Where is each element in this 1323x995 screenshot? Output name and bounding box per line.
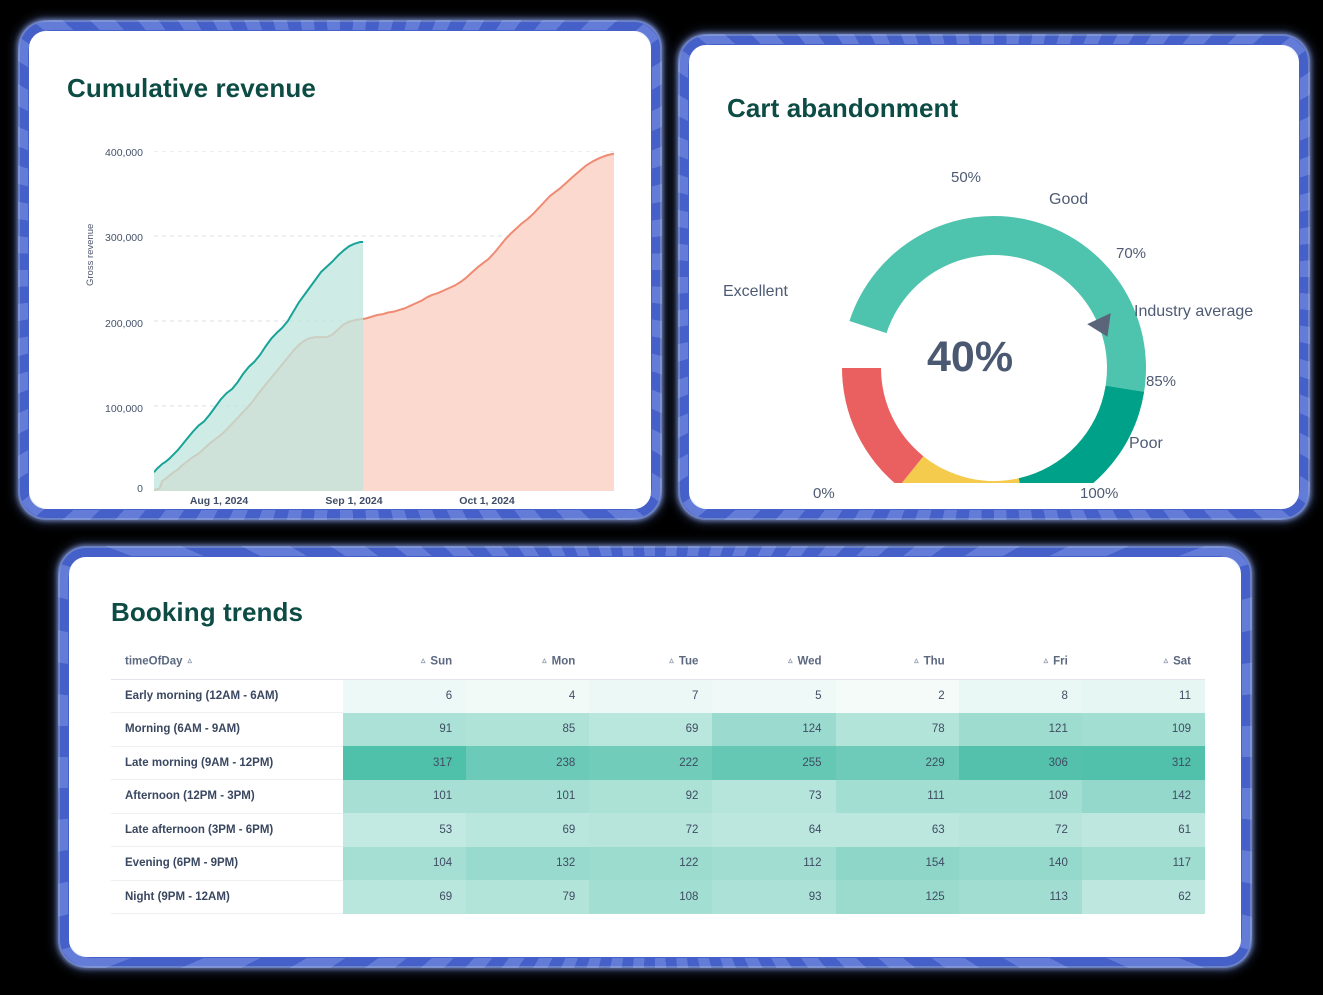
column-header-label: Thu	[924, 656, 945, 668]
page-title: Booking trends	[111, 597, 303, 628]
heatmap-cell: 229	[836, 746, 959, 780]
table-row: Night (9PM - 12AM)69791089312511362	[111, 880, 1205, 914]
heatmap-cell: 109	[959, 780, 1082, 814]
table-row: Evening (6PM - 9PM)104132122112154140117	[111, 847, 1205, 881]
heatmap-cell: 61	[1082, 813, 1205, 847]
row-header-cell: Afternoon (12PM - 3PM)	[111, 780, 343, 814]
heatmap-cell: 64	[712, 813, 835, 847]
y-tick-300000: 300,000	[105, 232, 143, 244]
heatmap-cell: 79	[466, 880, 589, 914]
heatmap-cell: 255	[712, 746, 835, 780]
column-header-label: Tue	[679, 656, 699, 668]
row-header-cell: Morning (6AM - 9AM)	[111, 713, 343, 747]
heatmap-cell: 121	[959, 713, 1082, 747]
dashboard-root: Cumulative revenue Gross revenue 400,000…	[0, 0, 1323, 995]
heatmap-cell: 69	[589, 713, 712, 747]
row-header-cell: Evening (6PM - 9PM)	[111, 847, 343, 881]
caret-up-icon: ▵	[421, 655, 426, 666]
heatmap-cell: 142	[1082, 780, 1205, 814]
column-header-sat[interactable]: ▵Sat	[1082, 655, 1205, 679]
row-header-cell: Late morning (9AM - 12PM)	[111, 746, 343, 780]
heatmap-cell: 69	[343, 880, 466, 914]
caret-up-icon: ▵	[188, 655, 193, 666]
column-header-label: Sun	[430, 656, 452, 668]
heatmap-cell: 108	[589, 880, 712, 914]
column-header-label: Sat	[1173, 656, 1191, 668]
gauge-band-label-industry: Industry average	[1134, 303, 1253, 321]
gauge-band-good	[1019, 386, 1144, 483]
heatmap-cell: 154	[836, 847, 959, 881]
page-title: Cart abandonment	[727, 93, 958, 124]
gauge-tick-70: 70%	[1116, 245, 1146, 262]
heatmap-cell: 8	[959, 679, 1082, 713]
y-tick-400000: 400,000	[105, 147, 143, 159]
heatmap-cell: 124	[712, 713, 835, 747]
heatmap-cell: 132	[466, 847, 589, 881]
heatmap-cell: 312	[1082, 746, 1205, 780]
revenue-chart: Gross revenue 400,000 300,000 200,000 10…	[29, 31, 651, 509]
heatmap-cell: 306	[959, 746, 1082, 780]
booking-trends-table: timeOfDay▵ ▵Sun ▵Mon ▵Tue ▵Wed ▵Thu ▵Fri…	[111, 655, 1205, 914]
heatmap-cell: 112	[712, 847, 835, 881]
caret-up-icon: ▵	[1044, 655, 1049, 666]
column-header-thu[interactable]: ▵Thu	[836, 655, 959, 679]
heatmap-cell: 11	[1082, 679, 1205, 713]
x-tick-oct: Oct 1, 2024	[459, 495, 514, 507]
heatmap-cell: 4	[466, 679, 589, 713]
heatmap-cell: 73	[712, 780, 835, 814]
table-header-row: timeOfDay▵ ▵Sun ▵Mon ▵Tue ▵Wed ▵Thu ▵Fri…	[111, 655, 1205, 679]
table-body: Early morning (12AM - 6AM)64752811Mornin…	[111, 679, 1205, 914]
heatmap-cell: 109	[1082, 713, 1205, 747]
caret-up-icon: ▵	[542, 655, 547, 666]
table-row: Early morning (12AM - 6AM)64752811	[111, 679, 1205, 713]
row-header-cell: Night (9PM - 12AM)	[111, 880, 343, 914]
column-header-tue[interactable]: ▵Tue	[589, 655, 712, 679]
booking-trends-table-wrapper: timeOfDay▵ ▵Sun ▵Mon ▵Tue ▵Wed ▵Thu ▵Fri…	[111, 655, 1205, 914]
heatmap-cell: 85	[466, 713, 589, 747]
column-header-sun[interactable]: ▵Sun	[343, 655, 466, 679]
cart-abandonment-card: Cart abandonment 40% Excellent Good Indu…	[680, 36, 1308, 518]
y-axis-title: Gross revenue	[85, 224, 96, 286]
heatmap-cell: 317	[343, 746, 466, 780]
row-header-cell: Early morning (12AM - 6AM)	[111, 679, 343, 713]
heatmap-cell: 6	[343, 679, 466, 713]
heatmap-cell: 5	[712, 679, 835, 713]
heatmap-cell: 101	[466, 780, 589, 814]
caret-up-icon: ▵	[1164, 655, 1169, 666]
column-header-label: Wed	[797, 656, 821, 668]
gauge-tick-85: 85%	[1146, 373, 1176, 390]
heatmap-cell: 62	[1082, 880, 1205, 914]
booking-trends-card: Booking trends timeOfDay▵ ▵Sun ▵Mon ▵Tue…	[60, 548, 1250, 966]
gauge-value-label: 40%	[927, 333, 1013, 382]
y-tick-100000: 100,000	[105, 403, 143, 415]
table-row: Late morning (9AM - 12PM)317238222255229…	[111, 746, 1205, 780]
heatmap-cell: 111	[836, 780, 959, 814]
heatmap-cell: 125	[836, 880, 959, 914]
heatmap-cell: 72	[589, 813, 712, 847]
heatmap-cell: 53	[343, 813, 466, 847]
gauge-tick-0: 0%	[813, 485, 835, 502]
table-head: timeOfDay▵ ▵Sun ▵Mon ▵Tue ▵Wed ▵Thu ▵Fri…	[111, 655, 1205, 679]
heatmap-cell: 72	[959, 813, 1082, 847]
table-row: Afternoon (12PM - 3PM)101101927311110914…	[111, 780, 1205, 814]
gauge-band-label-excellent: Excellent	[723, 283, 788, 301]
gauge-band-label-poor: Poor	[1129, 435, 1163, 453]
heatmap-cell: 91	[343, 713, 466, 747]
table-row: Late afternoon (3PM - 6PM)53697264637261	[111, 813, 1205, 847]
caret-up-icon: ▵	[788, 655, 793, 666]
column-header-timeofday[interactable]: timeOfDay▵	[111, 655, 343, 679]
column-header-label: Fri	[1053, 656, 1068, 668]
row-header-cell: Late afternoon (3PM - 6PM)	[111, 813, 343, 847]
heatmap-cell: 101	[343, 780, 466, 814]
column-header-label: timeOfDay	[125, 656, 183, 668]
column-header-label: Mon	[552, 656, 576, 668]
x-tick-aug: Aug 1, 2024	[190, 495, 248, 507]
heatmap-cell: 69	[466, 813, 589, 847]
heatmap-cell: 122	[589, 847, 712, 881]
caret-up-icon: ▵	[669, 655, 674, 666]
revenue-series	[154, 154, 614, 491]
heatmap-cell: 140	[959, 847, 1082, 881]
y-tick-0: 0	[137, 483, 143, 495]
gauge-band-label-good: Good	[1049, 191, 1088, 209]
gauge-tick-50: 50%	[951, 169, 981, 186]
x-tick-sep: Sep 1, 2024	[325, 495, 382, 507]
heatmap-cell: 7	[589, 679, 712, 713]
heatmap-cell: 117	[1082, 847, 1205, 881]
heatmap-cell: 104	[343, 847, 466, 881]
gauge-band-poor	[842, 368, 923, 483]
table-row: Morning (6AM - 9AM)91856912478121109	[111, 713, 1205, 747]
heatmap-cell: 113	[959, 880, 1082, 914]
gauge-tick-100: 100%	[1080, 485, 1118, 502]
heatmap-cell: 2	[836, 679, 959, 713]
heatmap-cell: 93	[712, 880, 835, 914]
cumulative-revenue-card: Cumulative revenue Gross revenue 400,000…	[20, 22, 660, 518]
heatmap-cell: 238	[466, 746, 589, 780]
heatmap-cell: 92	[589, 780, 712, 814]
column-header-fri[interactable]: ▵Fri	[959, 655, 1082, 679]
heatmap-cell: 222	[589, 746, 712, 780]
column-header-wed[interactable]: ▵Wed	[712, 655, 835, 679]
caret-up-icon: ▵	[914, 655, 919, 666]
y-tick-200000: 200,000	[105, 318, 143, 330]
heatmap-cell: 78	[836, 713, 959, 747]
revenue-plot-svg	[154, 151, 614, 491]
heatmap-cell: 63	[836, 813, 959, 847]
column-header-mon[interactable]: ▵Mon	[466, 655, 589, 679]
